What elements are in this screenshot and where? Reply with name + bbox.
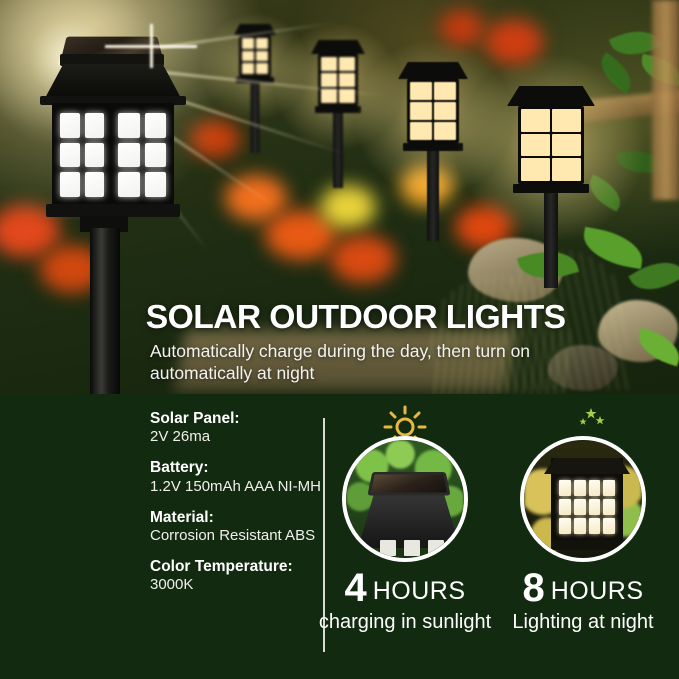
fence-post — [652, 0, 679, 200]
lighting-description: Lighting at night — [495, 611, 671, 633]
lantern-pane — [339, 57, 355, 71]
lantern-pane — [574, 499, 586, 515]
lantern-roof — [398, 62, 468, 79]
spec-label: Color Temperature: — [150, 558, 325, 576]
lantern-pane — [589, 480, 601, 496]
lantern-pane — [589, 518, 601, 534]
night-photo-circle — [520, 436, 646, 562]
page-subtitle: Automatically charge during the day, the… — [150, 340, 570, 384]
lantern-base — [403, 143, 463, 151]
spec-value: Corrosion Resistant ABS — [150, 527, 325, 545]
lantern-pane — [410, 82, 432, 100]
lantern-pane — [256, 38, 268, 49]
lantern-base — [551, 540, 623, 550]
background-lantern — [396, 60, 470, 240]
lantern-pole — [427, 151, 439, 241]
lantern-pane — [60, 113, 80, 138]
lantern-pane — [145, 143, 167, 168]
spec-value: 1.2V 150mAh AAA NI-MH — [150, 478, 325, 496]
lantern-pane — [321, 73, 337, 87]
lantern-roof — [44, 64, 182, 100]
background-lantern — [505, 84, 597, 284]
feature-charging: 4HOURS charging in sunlight — [317, 402, 493, 633]
lantern-pane — [521, 158, 550, 181]
lantern-body — [318, 54, 358, 106]
spec-item-battery: Battery: 1.2V 150mAh AAA NI-MH — [150, 459, 325, 495]
lantern-body — [518, 106, 584, 184]
flower-blur — [440, 10, 484, 46]
leaf — [593, 52, 638, 93]
page-title: SOLAR OUTDOOR LIGHTS — [146, 300, 574, 333]
hours-unit: HOURS — [551, 577, 644, 605]
charging-hours: 4HOURS — [317, 568, 493, 608]
lantern-face-left — [56, 109, 108, 201]
spec-panel: Solar Panel: 2V 26ma Battery: 1.2V 150mA… — [0, 394, 679, 679]
lantern-pane — [552, 134, 581, 157]
solar-panel-closeup — [367, 472, 450, 495]
product-marketing-poster: SOLAR OUTDOOR LIGHTS Automatically charg… — [0, 0, 679, 679]
lantern-pane — [559, 499, 571, 515]
lantern-body — [407, 79, 459, 143]
spec-label: Solar Panel: — [150, 410, 325, 428]
hours-number: 4 — [344, 566, 366, 610]
charging-description: charging in sunlight — [317, 611, 493, 633]
spec-label: Material: — [150, 509, 325, 527]
feature-lighting: 8HOURS Lighting at night — [495, 402, 671, 633]
lantern-pane — [242, 63, 254, 74]
lantern-pane — [60, 172, 80, 197]
spec-item-solar-panel: Solar Panel: 2V 26ma — [150, 410, 325, 446]
lantern-pane — [428, 540, 444, 556]
spec-label: Battery: — [150, 459, 325, 477]
lantern-pane — [552, 158, 581, 181]
lantern-pane — [242, 38, 254, 49]
lantern-pane — [434, 102, 456, 120]
lantern-pane — [521, 134, 550, 157]
charging-photo-circle — [342, 436, 468, 562]
lantern-pane — [574, 480, 586, 496]
circle-image — [346, 440, 464, 558]
lit-lantern-closeup — [551, 458, 623, 550]
lantern-pane — [145, 113, 167, 138]
lantern-pane — [85, 172, 105, 197]
lantern-body — [52, 103, 174, 207]
lantern-pane — [410, 122, 432, 140]
lantern-pane — [603, 499, 615, 515]
lantern-pane — [118, 143, 140, 168]
flower-blur — [225, 175, 287, 221]
lantern-pane-grid — [556, 477, 618, 537]
spec-value: 2V 26ma — [150, 428, 325, 446]
lantern-pane — [434, 122, 456, 140]
lantern-pane — [410, 102, 432, 120]
lantern-pane — [85, 143, 105, 168]
spec-value: 3000K — [150, 576, 325, 594]
lantern-pane — [145, 172, 167, 197]
lantern-pane — [242, 51, 254, 62]
spec-item-material: Material: Corrosion Resistant ABS — [150, 509, 325, 545]
lantern-pane — [552, 109, 581, 132]
lantern-pane — [60, 143, 80, 168]
lantern-body — [239, 35, 271, 77]
lantern-pane — [404, 540, 420, 556]
lantern-pane — [85, 113, 105, 138]
lantern-roof — [544, 458, 630, 474]
lantern-pane — [559, 518, 571, 534]
lantern-pane — [603, 518, 615, 534]
hours-number: 8 — [522, 566, 544, 610]
lantern-pane — [118, 113, 140, 138]
circle-image — [524, 440, 642, 558]
lantern-pane — [589, 499, 601, 515]
lantern-pane — [603, 480, 615, 496]
lantern-pane — [339, 73, 355, 87]
flower-blur — [330, 235, 396, 283]
lantern-pane — [380, 540, 396, 556]
hours-unit: HOURS — [373, 577, 466, 605]
flower-blur — [485, 20, 543, 64]
lantern-face-right — [114, 109, 170, 201]
lantern-roof — [311, 40, 365, 54]
lantern-base — [315, 106, 361, 113]
lantern-pane — [574, 518, 586, 534]
flower-blur — [320, 185, 376, 229]
lantern-roof — [507, 86, 595, 106]
lantern-pane — [434, 82, 456, 100]
spec-item-color-temperature: Color Temperature: 3000K — [150, 558, 325, 594]
lantern-base — [513, 184, 589, 193]
lighting-hours: 8HOURS — [495, 568, 671, 608]
headline-block: SOLAR OUTDOOR LIGHTS Automatically charg… — [150, 300, 570, 384]
specs-list: Solar Panel: 2V 26ma Battery: 1.2V 150mA… — [150, 410, 325, 607]
lantern-pole — [544, 193, 558, 288]
lantern-pane — [118, 172, 140, 197]
background-lantern — [310, 38, 366, 188]
lantern-pole — [251, 83, 260, 153]
lantern-pane — [559, 480, 571, 496]
background-lantern — [232, 22, 278, 152]
lantern-pane — [321, 57, 337, 71]
lantern-pane — [256, 63, 268, 74]
lantern-pane — [256, 51, 268, 62]
lantern-pane — [521, 109, 550, 132]
